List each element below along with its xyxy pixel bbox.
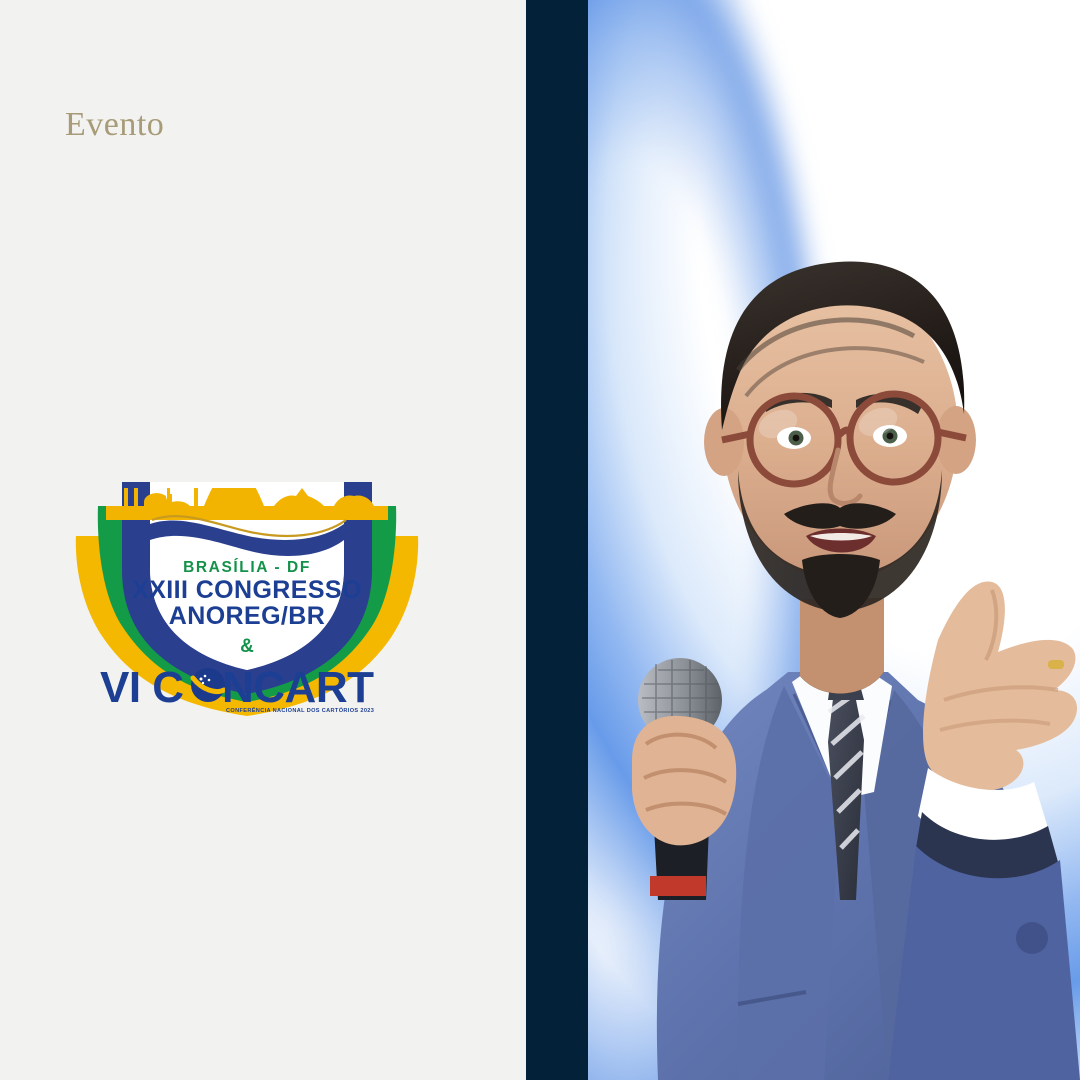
- page-eyebrow-label: Evento: [65, 106, 164, 143]
- slide-canvas: Evento: [0, 0, 1080, 1080]
- left-content-panel: Evento: [0, 0, 526, 1080]
- speaker-figure: [588, 0, 1080, 1080]
- logo-city-text: BRASÍLIA - DF: [183, 559, 311, 576]
- event-logo: BRASÍLIA - DF XXIII CONGRESSO ANOREG/BR …: [62, 440, 432, 730]
- concart-suffix: NCART: [222, 663, 374, 712]
- concart-prefix: VI C: [100, 663, 184, 712]
- logo-title-line2: ANOREG/BR: [169, 602, 325, 630]
- logo-ampersand: &: [240, 636, 254, 657]
- speaker-photo: [588, 0, 1080, 1080]
- brasilia-skyline-icon: [106, 440, 388, 520]
- logo-title-line1: XXIII CONGRESSO: [132, 576, 362, 604]
- concart-wordmark: VI C NCART CONFERÊNCIA NACIONAL DOS CART…: [100, 663, 374, 714]
- concart-tagline: CONFERÊNCIA NACIONAL DOS CARTÓRIOS 2023: [226, 706, 374, 714]
- panel-divider: [526, 0, 588, 1080]
